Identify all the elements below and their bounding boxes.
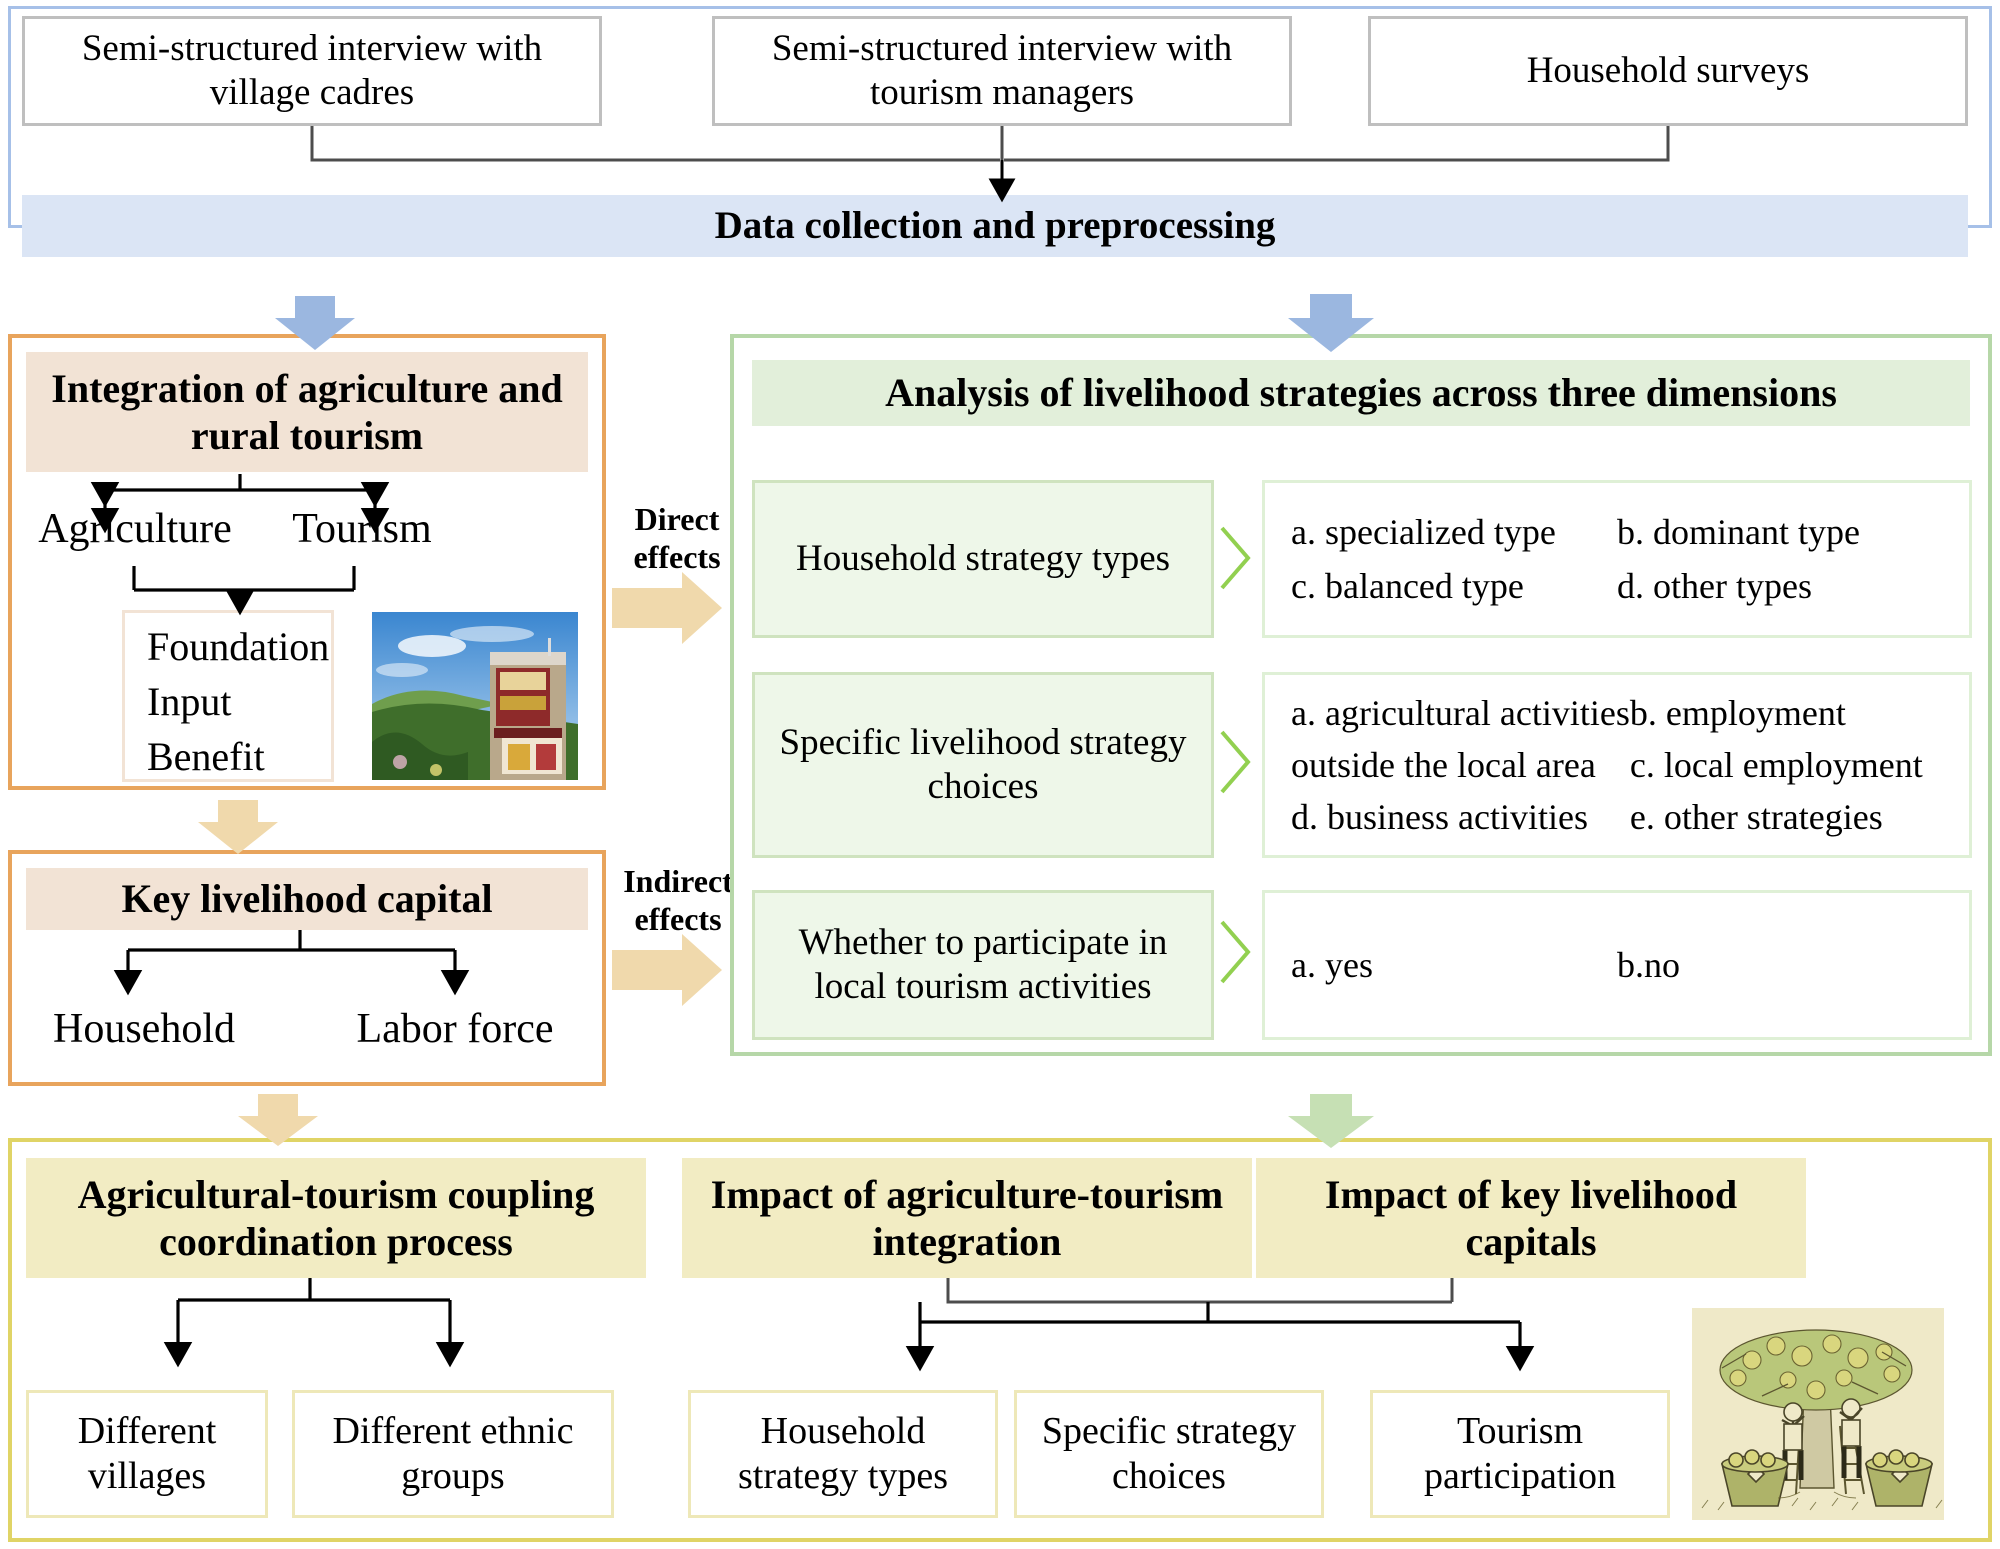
option-item: b.no	[1617, 944, 1943, 986]
option-item: b. dominant type	[1617, 511, 1943, 553]
dimension-label-tourism-participation: Whether to participate in local tourism …	[752, 890, 1214, 1040]
branch-label: Labor force	[356, 1005, 553, 1055]
outcome-title-text: Impact of agriculture-tourism integratio…	[700, 1171, 1234, 1265]
outcome-item-household-strategy-types: Household strategy types	[688, 1390, 998, 1518]
orange-down-arrow-capital	[198, 800, 278, 854]
outcome-item-text: Tourism participation	[1383, 1409, 1657, 1499]
indirect-effects-arrow	[612, 934, 722, 1006]
integration-aspects-box: Foundation Input Benefit	[122, 610, 334, 782]
branch-label: Tourism	[292, 505, 431, 555]
outcome-item-different-ethnic-groups: Different ethnic groups	[292, 1390, 614, 1518]
direct-effects-arrow	[612, 572, 722, 644]
analysis-title-band: Analysis of livelihood strategies across…	[752, 360, 1970, 426]
outcome-item-different-villages: Different villages	[26, 1390, 268, 1518]
integration-branch-agriculture: Agriculture	[20, 500, 250, 560]
aspect-input: Input	[147, 674, 331, 729]
outcome-item-specific-strategy-choices: Specific strategy choices	[1014, 1390, 1324, 1518]
dimension-options-household-strategy-types: a. specialized type b. dominant type c. …	[1262, 480, 1972, 638]
option-item: a. specialized type	[1291, 511, 1617, 553]
aspect-benefit: Benefit	[147, 729, 331, 784]
outcome-title-integration-impact: Impact of agriculture-tourism integratio…	[682, 1158, 1252, 1278]
direct-effects-label: Direct effects	[612, 500, 742, 577]
integration-title: Integration of agriculture and rural tou…	[42, 365, 572, 459]
option-item: b. employment	[1630, 692, 1943, 734]
dimension-options-tourism-participation: a. yes b.no	[1262, 890, 1972, 1040]
dimension-label-text: Specific livelihood strategy choices	[775, 721, 1191, 808]
outcome-title-coupling: Agricultural-tourism coupling coordinati…	[26, 1158, 646, 1278]
data-collection-band-label: Data collection and preprocessing	[715, 203, 1276, 249]
capital-branch-labor-force: Labor force	[330, 1000, 580, 1060]
data-collection-band: Data collection and preprocessing	[22, 195, 1968, 257]
outcome-item-text: Specific strategy choices	[1027, 1409, 1311, 1499]
option-item: outside the local area	[1291, 744, 1630, 786]
outcome-title-capital-impact: Impact of key livelihood capitals	[1256, 1158, 1806, 1278]
option-item: a. yes	[1291, 944, 1617, 986]
capital-title-band: Key livelihood capital	[26, 868, 588, 930]
direct-effects-text: Direct effects	[612, 500, 742, 577]
aspect-foundation: Foundation	[147, 619, 331, 674]
dimension-label-household-strategy-types: Household strategy types	[752, 480, 1214, 638]
source-box-tourism-managers: Semi-structured interview with tourism m…	[712, 16, 1292, 126]
option-item: e. other strategies	[1630, 796, 1943, 838]
capital-title: Key livelihood capital	[121, 875, 492, 922]
option-item: c. local employment	[1630, 744, 1943, 786]
flowchart-figure: Semi-structured interview with village c…	[0, 0, 2000, 1549]
option-item: d. other types	[1617, 565, 1943, 607]
indirect-effects-text: Indirect effects	[608, 862, 748, 939]
dimension-label-text: Household strategy types	[796, 537, 1170, 581]
branch-label: Household	[53, 1005, 235, 1055]
source-box-household-surveys: Household surveys	[1368, 16, 1968, 126]
integration-branch-tourism: Tourism	[262, 500, 462, 560]
outcome-title-text: Impact of key livelihood capitals	[1274, 1171, 1788, 1265]
village-guesthouse-photo	[372, 612, 578, 780]
outcome-item-text: Different ethnic groups	[305, 1409, 601, 1499]
option-item: c. balanced type	[1291, 565, 1617, 607]
integration-title-band: Integration of agriculture and rural tou…	[26, 352, 588, 472]
source-label: Semi-structured interview with tourism m…	[729, 27, 1275, 114]
dimension-options-specific-livelihood-strategy-choices: a. agricultural activities b. employment…	[1262, 672, 1972, 858]
option-item: a. agricultural activities	[1291, 692, 1630, 734]
option-item: d. business activities	[1291, 796, 1630, 838]
source-box-village-cadres: Semi-structured interview with village c…	[22, 16, 602, 126]
source-label: Semi-structured interview with village c…	[39, 27, 585, 114]
capital-branch-household: Household	[20, 1000, 268, 1060]
outcome-item-text: Household strategy types	[701, 1409, 985, 1499]
outcome-item-tourism-participation: Tourism participation	[1370, 1390, 1670, 1518]
branch-label: Agriculture	[38, 505, 232, 555]
outcome-item-text: Different villages	[39, 1409, 255, 1499]
dimension-label-specific-livelihood-strategy-choices: Specific livelihood strategy choices	[752, 672, 1214, 858]
analysis-title: Analysis of livelihood strategies across…	[885, 369, 1837, 416]
source-label: Household surveys	[1527, 49, 1810, 93]
indirect-effects-label: Indirect effects	[608, 862, 748, 939]
fruit-harvest-illustration	[1692, 1308, 1944, 1520]
outcome-title-text: Agricultural-tourism coupling coordinati…	[44, 1171, 628, 1265]
dimension-label-text: Whether to participate in local tourism …	[769, 921, 1197, 1008]
